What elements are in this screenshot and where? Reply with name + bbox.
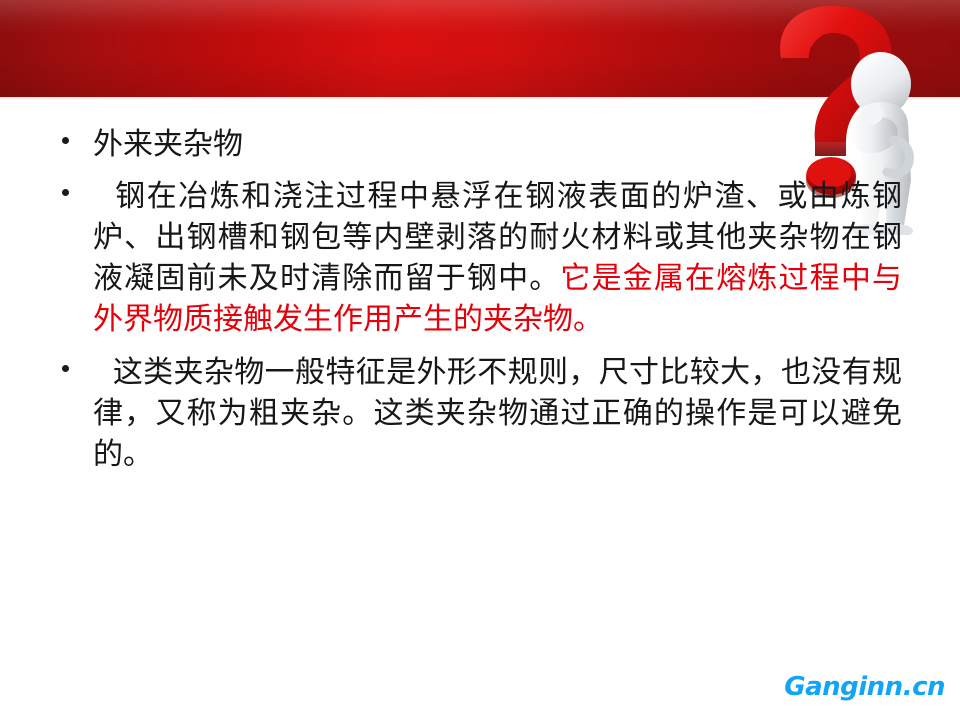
bullet-item-1: 外来夹杂物 xyxy=(0,124,960,165)
bullet-marker-icon xyxy=(62,365,69,372)
slide-body: 外来夹杂物 钢在冶炼和浇注过程中悬浮在钢液表面的炉渣、或由炼钢炉、出钢槽和钢包等… xyxy=(0,124,960,475)
watermark-ganginn: Ganginn.cn xyxy=(784,672,945,702)
bullet-item-2: 钢在冶炼和浇注过程中悬浮在钢液表面的炉渣、或由炼钢炉、出钢槽和钢包等内壁剥落的耐… xyxy=(0,176,960,340)
bullet-item-3: 这类夹杂物一般特征是外形不规则，尺寸比较大，也没有规律，又称为粗夹杂。这类夹杂物… xyxy=(0,352,960,475)
spacer-2 xyxy=(0,340,960,352)
bullet-marker-icon xyxy=(62,189,69,196)
bullet-3-text: 这类夹杂物一般特征是外形不规则，尺寸比较大，也没有规律，又称为粗夹杂。这类夹杂物… xyxy=(93,352,902,475)
bullet-marker-icon xyxy=(62,137,69,144)
spacer-1 xyxy=(0,165,960,176)
bullet-2-text: 钢在冶炼和浇注过程中悬浮在钢液表面的炉渣、或由炼钢炉、出钢槽和钢包等内壁剥落的耐… xyxy=(93,176,902,340)
bullet-1-text: 外来夹杂物 xyxy=(93,124,902,165)
slide-canvas: 外来夹杂物 钢在冶炼和浇注过程中悬浮在钢液表面的炉渣、或由炼钢炉、出钢槽和钢包等… xyxy=(0,0,960,720)
